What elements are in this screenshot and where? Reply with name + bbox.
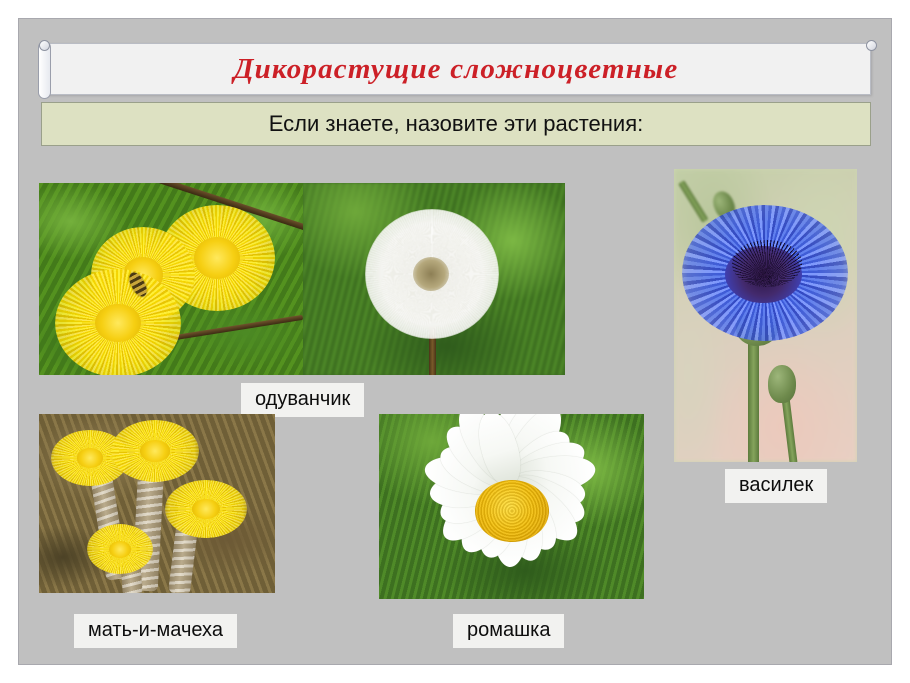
seedhead-core (413, 257, 449, 291)
subtitle-placeholder[interactable]: Если знаете, назовите эти растения: (41, 102, 871, 146)
cornflower-main-stem (748, 329, 759, 462)
flower-disc (194, 237, 240, 279)
photo-daisy[interactable] (379, 414, 644, 599)
caption-coltsfoot: мать-и-мачеха (74, 614, 237, 648)
page-title: Дикорастущие сложноцветные (234, 53, 679, 86)
photo-dandelion-flowers[interactable] (39, 183, 303, 375)
slide-canvas: Дикорастущие сложноцветные Если знаете, … (18, 18, 892, 665)
caption-cornflower: василек (725, 469, 827, 503)
subtitle-text: Если знаете, назовите эти растения: (269, 111, 644, 137)
photo-coltsfoot[interactable] (39, 414, 275, 593)
caption-dandelion: одуванчик (241, 383, 364, 417)
dandelion-bloom-lower-left (55, 269, 181, 375)
flower-disc (192, 499, 220, 519)
photo-dandelion-seedhead[interactable] (303, 183, 565, 375)
title-resize-handle-top-left[interactable] (39, 40, 50, 51)
daisy-centre-disc (475, 480, 549, 542)
cornflower-bud-lower (768, 365, 796, 403)
flower-disc (95, 304, 140, 343)
flower-disc (77, 448, 104, 467)
flower-disc (109, 541, 131, 558)
slide-title-placeholder[interactable]: Дикорастущие сложноцветные (41, 43, 871, 95)
title-resize-handle-top-right[interactable] (866, 40, 877, 51)
coltsfoot-bloom-right (165, 480, 247, 538)
coltsfoot-bloom-top (111, 420, 199, 482)
caption-daisy: ромашка (453, 614, 564, 648)
coltsfoot-bloom-bottom (87, 524, 153, 574)
flower-disc (140, 440, 170, 461)
cornflower-bloom (682, 205, 848, 341)
stamens (732, 240, 802, 286)
photo-cornflower[interactable] (674, 169, 857, 462)
